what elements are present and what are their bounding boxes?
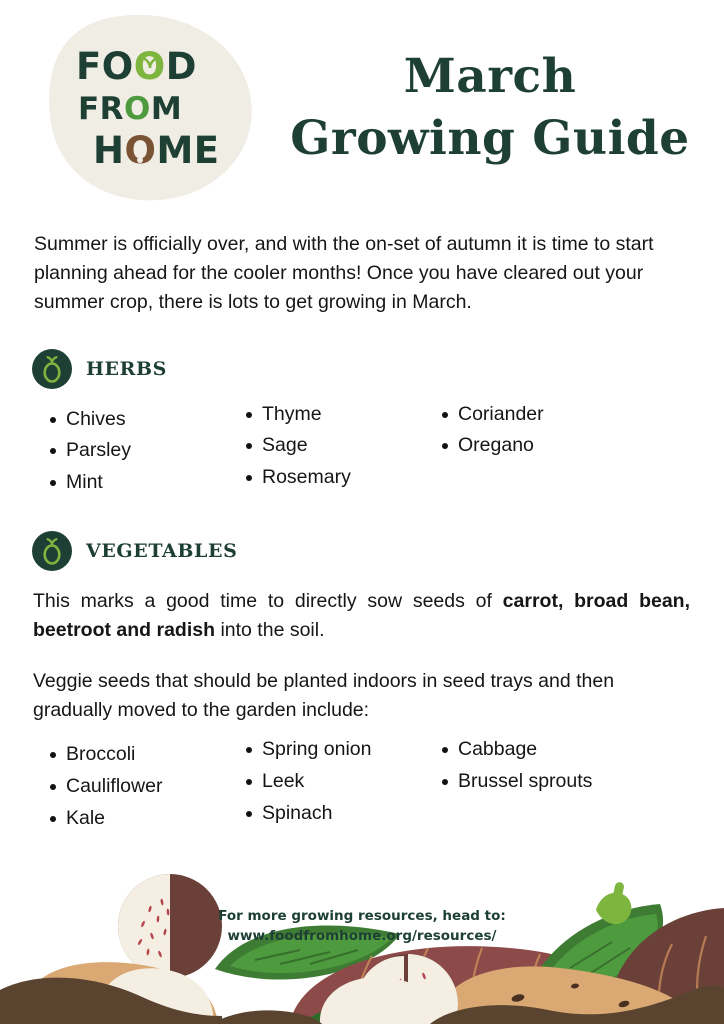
logo-line-from: FROM [78, 94, 226, 125]
sow-paragraph-tail: into the soil. [215, 619, 324, 641]
sprout-icon [140, 37, 160, 49]
page-title-line-1: March [280, 46, 700, 108]
list-item: Broccoli [66, 739, 236, 771]
herbs-list-3: Coriander Oregano [432, 399, 662, 463]
list-item: Cabbage [458, 734, 662, 766]
list-item: Chives [66, 404, 236, 436]
footer-resources-text: For more growing resources, head to: www… [0, 906, 724, 947]
logo-wordmark: FOOD FROM HOME [76, 48, 226, 178]
logo-home-prefix: H [93, 132, 124, 169]
vegetables-column-1: Broccoli Cauliflower Kale [40, 734, 236, 834]
sow-paragraph: This marks a good time to directly sow s… [33, 587, 690, 645]
page-title: March Growing Guide [280, 46, 700, 170]
logo-from-prefix: FR [78, 94, 124, 125]
seed-dot-icon [137, 157, 143, 163]
page-header: FOOD FROM HOME March Growing Guide [0, 0, 724, 212]
vegetables-list-3: Cabbage Brussel sprouts [432, 734, 662, 798]
list-item: Spinach [262, 798, 432, 830]
page-content: Summer is officially over, and with the … [0, 212, 724, 835]
list-item: Oregano [458, 430, 662, 462]
logo-from-suffix: M [151, 94, 182, 125]
sprout-circle-icon [32, 531, 72, 571]
logo-from-accent-o: O [124, 94, 151, 125]
list-item: Brussel sprouts [458, 766, 662, 798]
list-item: Thyme [262, 399, 432, 431]
section-header-herbs: HERBS [32, 349, 724, 389]
vegetables-column-2: Spring onion Leek Spinach [236, 734, 432, 834]
section-label-herbs: HERBS [86, 358, 167, 380]
vegetables-column-3: Cabbage Brussel sprouts [432, 734, 662, 834]
list-item: Coriander [458, 399, 662, 431]
herbs-column-2: Thyme Sage Rosemary [236, 399, 432, 499]
list-item: Sage [262, 430, 432, 462]
list-item: Mint [66, 467, 236, 499]
herbs-column-3: Coriander Oregano [432, 399, 662, 499]
vegetables-list-2: Spring onion Leek Spinach [236, 734, 432, 829]
logo-line-food: FOOD [76, 48, 226, 85]
list-item: Leek [262, 766, 432, 798]
list-item: Kale [66, 803, 236, 835]
footer-line-1: For more growing resources, head to: [0, 906, 724, 926]
herbs-list-columns: Chives Parsley Mint Thyme Sage Rosemary … [40, 399, 724, 499]
logo-home-suffix: ME [156, 132, 219, 169]
list-item: Cauliflower [66, 771, 236, 803]
page-title-line-2: Growing Guide [280, 108, 700, 170]
logo-line-home: HOME [93, 132, 226, 169]
section-header-vegetables: VEGETABLES [32, 531, 724, 571]
sprout-circle-icon [32, 349, 72, 389]
list-item: Parsley [66, 435, 236, 467]
intro-paragraph: Summer is officially over, and with the … [34, 230, 692, 317]
vegetables-list-columns: Broccoli Cauliflower Kale Spring onion L… [40, 734, 724, 834]
list-item: Rosemary [262, 462, 432, 494]
indoor-paragraph: Veggie seeds that should be planted indo… [33, 667, 690, 725]
logo-food-suffix: D [166, 48, 197, 85]
herbs-column-1: Chives Parsley Mint [40, 399, 236, 499]
logo-home-accent-o: O [124, 129, 156, 172]
herbs-list-2: Thyme Sage Rosemary [236, 399, 432, 494]
section-label-vegetables: VEGETABLES [86, 540, 237, 562]
logo-food-prefix: FO [76, 48, 134, 85]
footer-line-2[interactable]: www.foodfromhome.org/resources/ [0, 926, 724, 946]
sow-paragraph-lead: This marks a good time to directly sow s… [33, 590, 503, 612]
vegetables-list-1: Broccoli Cauliflower Kale [40, 739, 236, 834]
herbs-list-1: Chives Parsley Mint [40, 404, 236, 499]
list-item: Spring onion [262, 734, 432, 766]
